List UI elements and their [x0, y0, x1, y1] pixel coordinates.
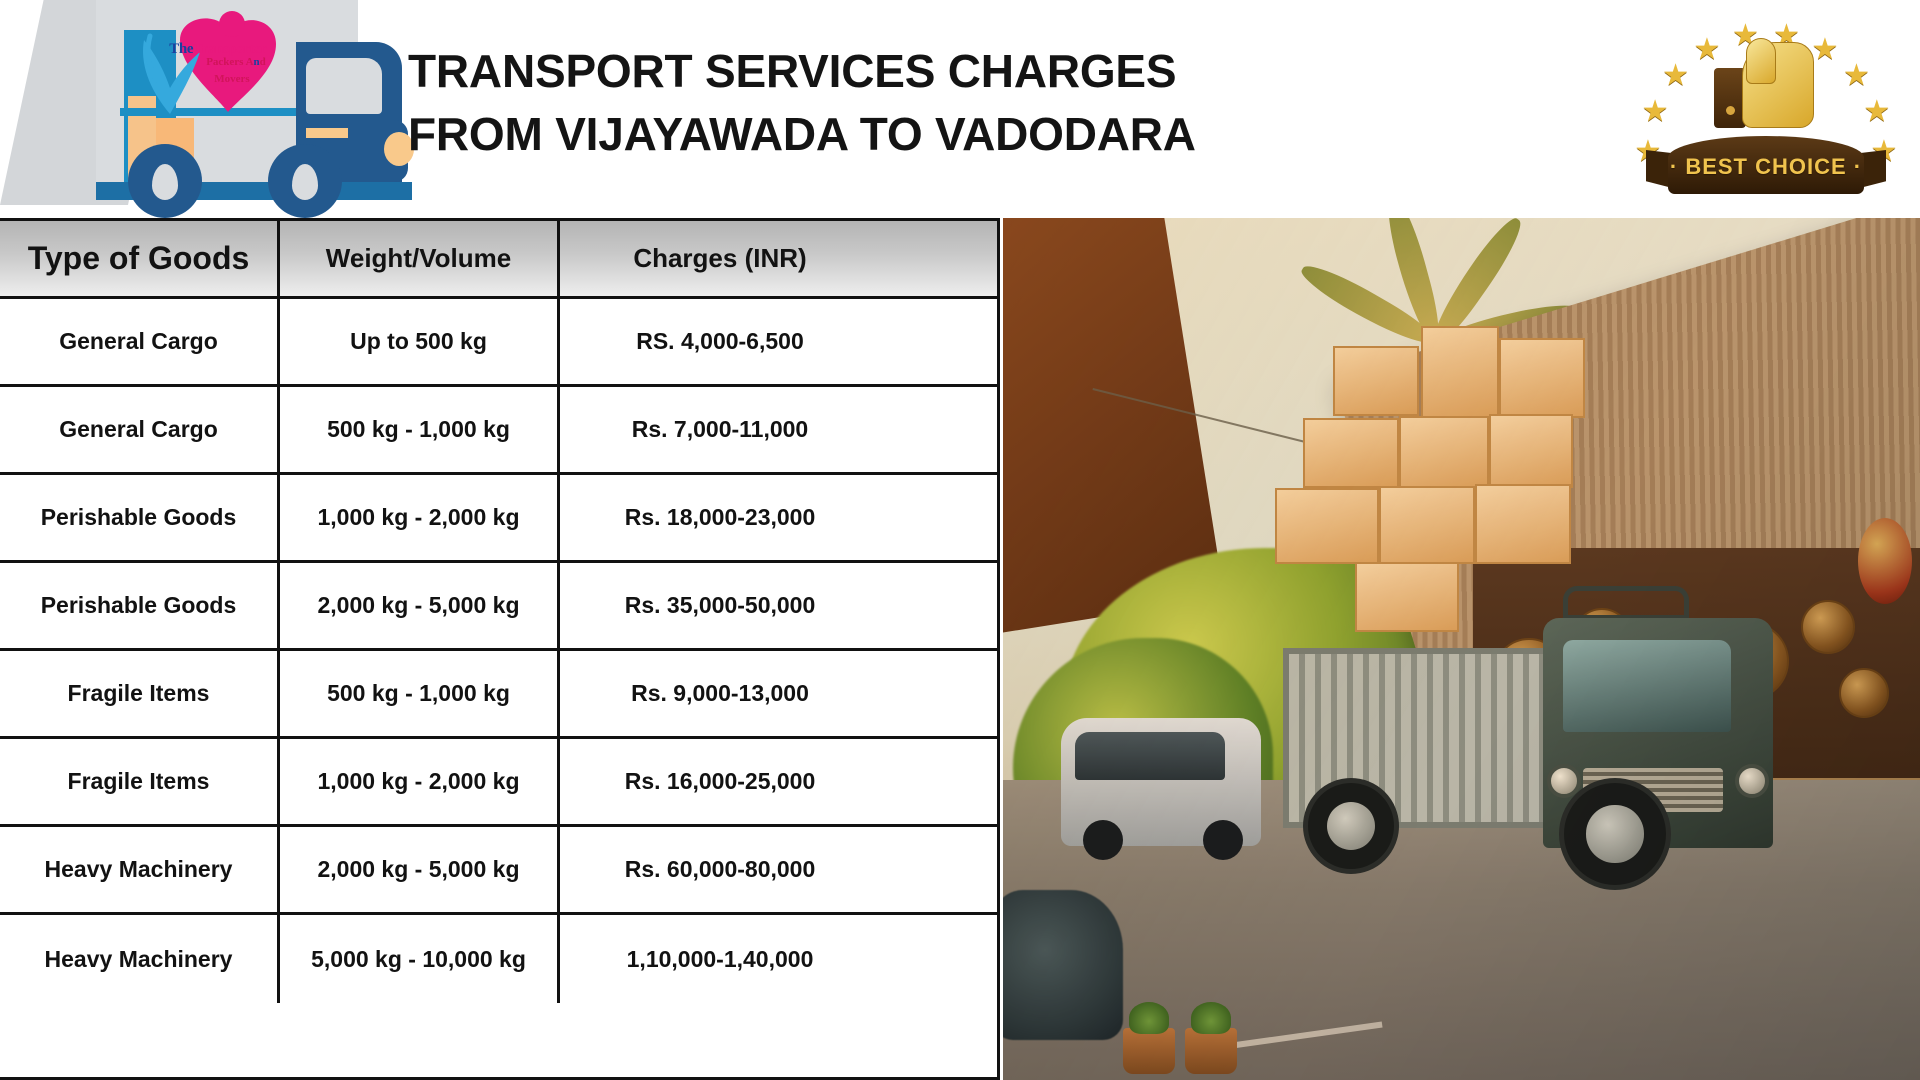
poster-header: TheTransporter Packers And Movers TRANSP… [0, 0, 1920, 218]
table-row: Fragile Items1,000 kg - 2,000 kgRs. 16,0… [0, 739, 997, 827]
photo-van-wheel [1203, 820, 1243, 860]
cell-weight: 5,000 kg - 10,000 kg [280, 915, 560, 1003]
cell-weight: 500 kg - 1,000 kg [280, 387, 560, 472]
photo-roof-rack [1563, 586, 1689, 620]
star-icon: ★ [1841, 61, 1871, 91]
cell-weight: 1,000 kg - 2,000 kg [280, 475, 560, 560]
logo-name-line2: Packers And [166, 56, 306, 68]
page-title: TRANSPORT SERVICES CHARGES FROM VIJAYAWA… [408, 40, 1298, 167]
photo-potted-plant [1185, 1028, 1237, 1074]
cell-weight: 2,000 kg - 5,000 kg [280, 563, 560, 648]
photo-lantern [1858, 518, 1912, 604]
cell-charges: Rs. 7,000-11,000 [560, 387, 880, 472]
logo-transporter: Transporter [193, 41, 267, 57]
photo-cardboard-box [1355, 562, 1459, 632]
photo-van-windshield [1075, 732, 1225, 780]
infographic-poster: TheTransporter Packers And Movers TRANSP… [0, 0, 1920, 1080]
photo-cardboard-box [1421, 326, 1499, 418]
cell-goods: Perishable Goods [0, 475, 280, 560]
cell-goods: Heavy Machinery [0, 915, 280, 1003]
logo-the: The [169, 41, 193, 57]
photo-cardboard-box [1333, 346, 1419, 416]
charges-table: Type of Goods Weight/Volume Charges (INR… [0, 218, 1000, 1080]
photo-truck-windshield [1563, 640, 1731, 732]
column-header-weight: Weight/Volume [280, 221, 560, 296]
thumbs-up-icon [1714, 40, 1830, 130]
star-icon: ★ [1640, 97, 1670, 127]
table-body: General CargoUp to 500 kgRS. 4,000-6,500… [0, 299, 997, 1003]
table-row: Heavy Machinery5,000 kg - 10,000 kg1,10,… [0, 915, 997, 1003]
title-line-2: FROM VIJAYAWADA TO VADODARA [408, 103, 1298, 166]
best-choice-badge: ★★★★★★★★★★ · BEST CHOICE · [1636, 2, 1896, 214]
photo-woven-plate [1839, 668, 1889, 718]
star-icon: ★ [1862, 97, 1892, 127]
table-header-row: Type of Goods Weight/Volume Charges (INR… [0, 221, 997, 299]
table-row: General CargoUp to 500 kgRS. 4,000-6,500 [0, 299, 997, 387]
cell-goods: Fragile Items [0, 651, 280, 736]
photo-woven-plate [1801, 600, 1855, 654]
cell-charges: Rs. 16,000-25,000 [560, 739, 880, 824]
badge-ribbon: · BEST CHOICE · [1646, 132, 1886, 198]
truck-door-handle [306, 128, 348, 138]
cell-charges: Rs. 60,000-80,000 [560, 827, 880, 912]
photo-cardboard-box [1475, 484, 1571, 564]
truck-window-shape [306, 58, 382, 114]
cell-goods: Fragile Items [0, 739, 280, 824]
photo-cardboard-box [1303, 418, 1399, 488]
photo-cardboard-box [1489, 414, 1573, 488]
cell-goods: Perishable Goods [0, 563, 280, 648]
star-icon: ★ [1661, 61, 1691, 91]
truck-wheel-icon [128, 144, 202, 218]
logo-name-line3: Movers [172, 73, 292, 85]
table-row: Heavy Machinery2,000 kg - 5,000 kgRs. 60… [0, 827, 997, 915]
table-row: Fragile Items500 kg - 1,000 kgRs. 9,000-… [0, 651, 997, 739]
table-row: Perishable Goods2,000 kg - 5,000 kgRs. 3… [0, 563, 997, 651]
table-row: Perishable Goods1,000 kg - 2,000 kgRs. 1… [0, 475, 997, 563]
photo-truck-tire [1303, 778, 1399, 874]
photo-motorcycle [1003, 890, 1123, 1040]
truck-wheel-icon [268, 144, 342, 218]
cell-weight: 500 kg - 1,000 kg [280, 651, 560, 736]
cell-charges: RS. 4,000-6,500 [560, 299, 880, 384]
cell-goods: Heavy Machinery [0, 827, 280, 912]
company-logo: TheTransporter Packers And Movers [120, 8, 300, 118]
thumb-finger-shape [1746, 38, 1776, 84]
cell-goods: General Cargo [0, 299, 280, 384]
photo-cardboard-box [1275, 488, 1379, 564]
table-row: General Cargo500 kg - 1,000 kgRs. 7,000-… [0, 387, 997, 475]
delivery-truck-illustration: TheTransporter Packers And Movers [0, 0, 470, 218]
photo-truck-tire [1559, 778, 1671, 890]
photo-silver-van [1061, 718, 1261, 846]
cell-charges: Rs. 18,000-23,000 [560, 475, 880, 560]
badge-label: · BEST CHOICE · [1668, 154, 1864, 180]
cell-charges: Rs. 35,000-50,000 [560, 563, 880, 648]
column-header-goods: Type of Goods [0, 221, 280, 296]
cell-goods: General Cargo [0, 387, 280, 472]
photo-potted-plant [1123, 1028, 1175, 1074]
cell-charges: Rs. 9,000-13,000 [560, 651, 880, 736]
cell-charges: 1,10,000-1,40,000 [560, 915, 880, 1003]
village-truck-photo [1003, 218, 1920, 1080]
photo-van-wheel [1083, 820, 1123, 860]
cell-weight: 2,000 kg - 5,000 kg [280, 827, 560, 912]
photo-cardboard-box [1499, 338, 1585, 418]
cell-weight: 1,000 kg - 2,000 kg [280, 739, 560, 824]
photo-truck-headlight [1735, 764, 1769, 798]
cell-weight: Up to 500 kg [280, 299, 560, 384]
column-header-charges: Charges (INR) [560, 221, 880, 296]
title-line-1: TRANSPORT SERVICES CHARGES [408, 40, 1298, 103]
photo-cardboard-box [1399, 416, 1489, 488]
photo-cardboard-box [1379, 486, 1475, 564]
